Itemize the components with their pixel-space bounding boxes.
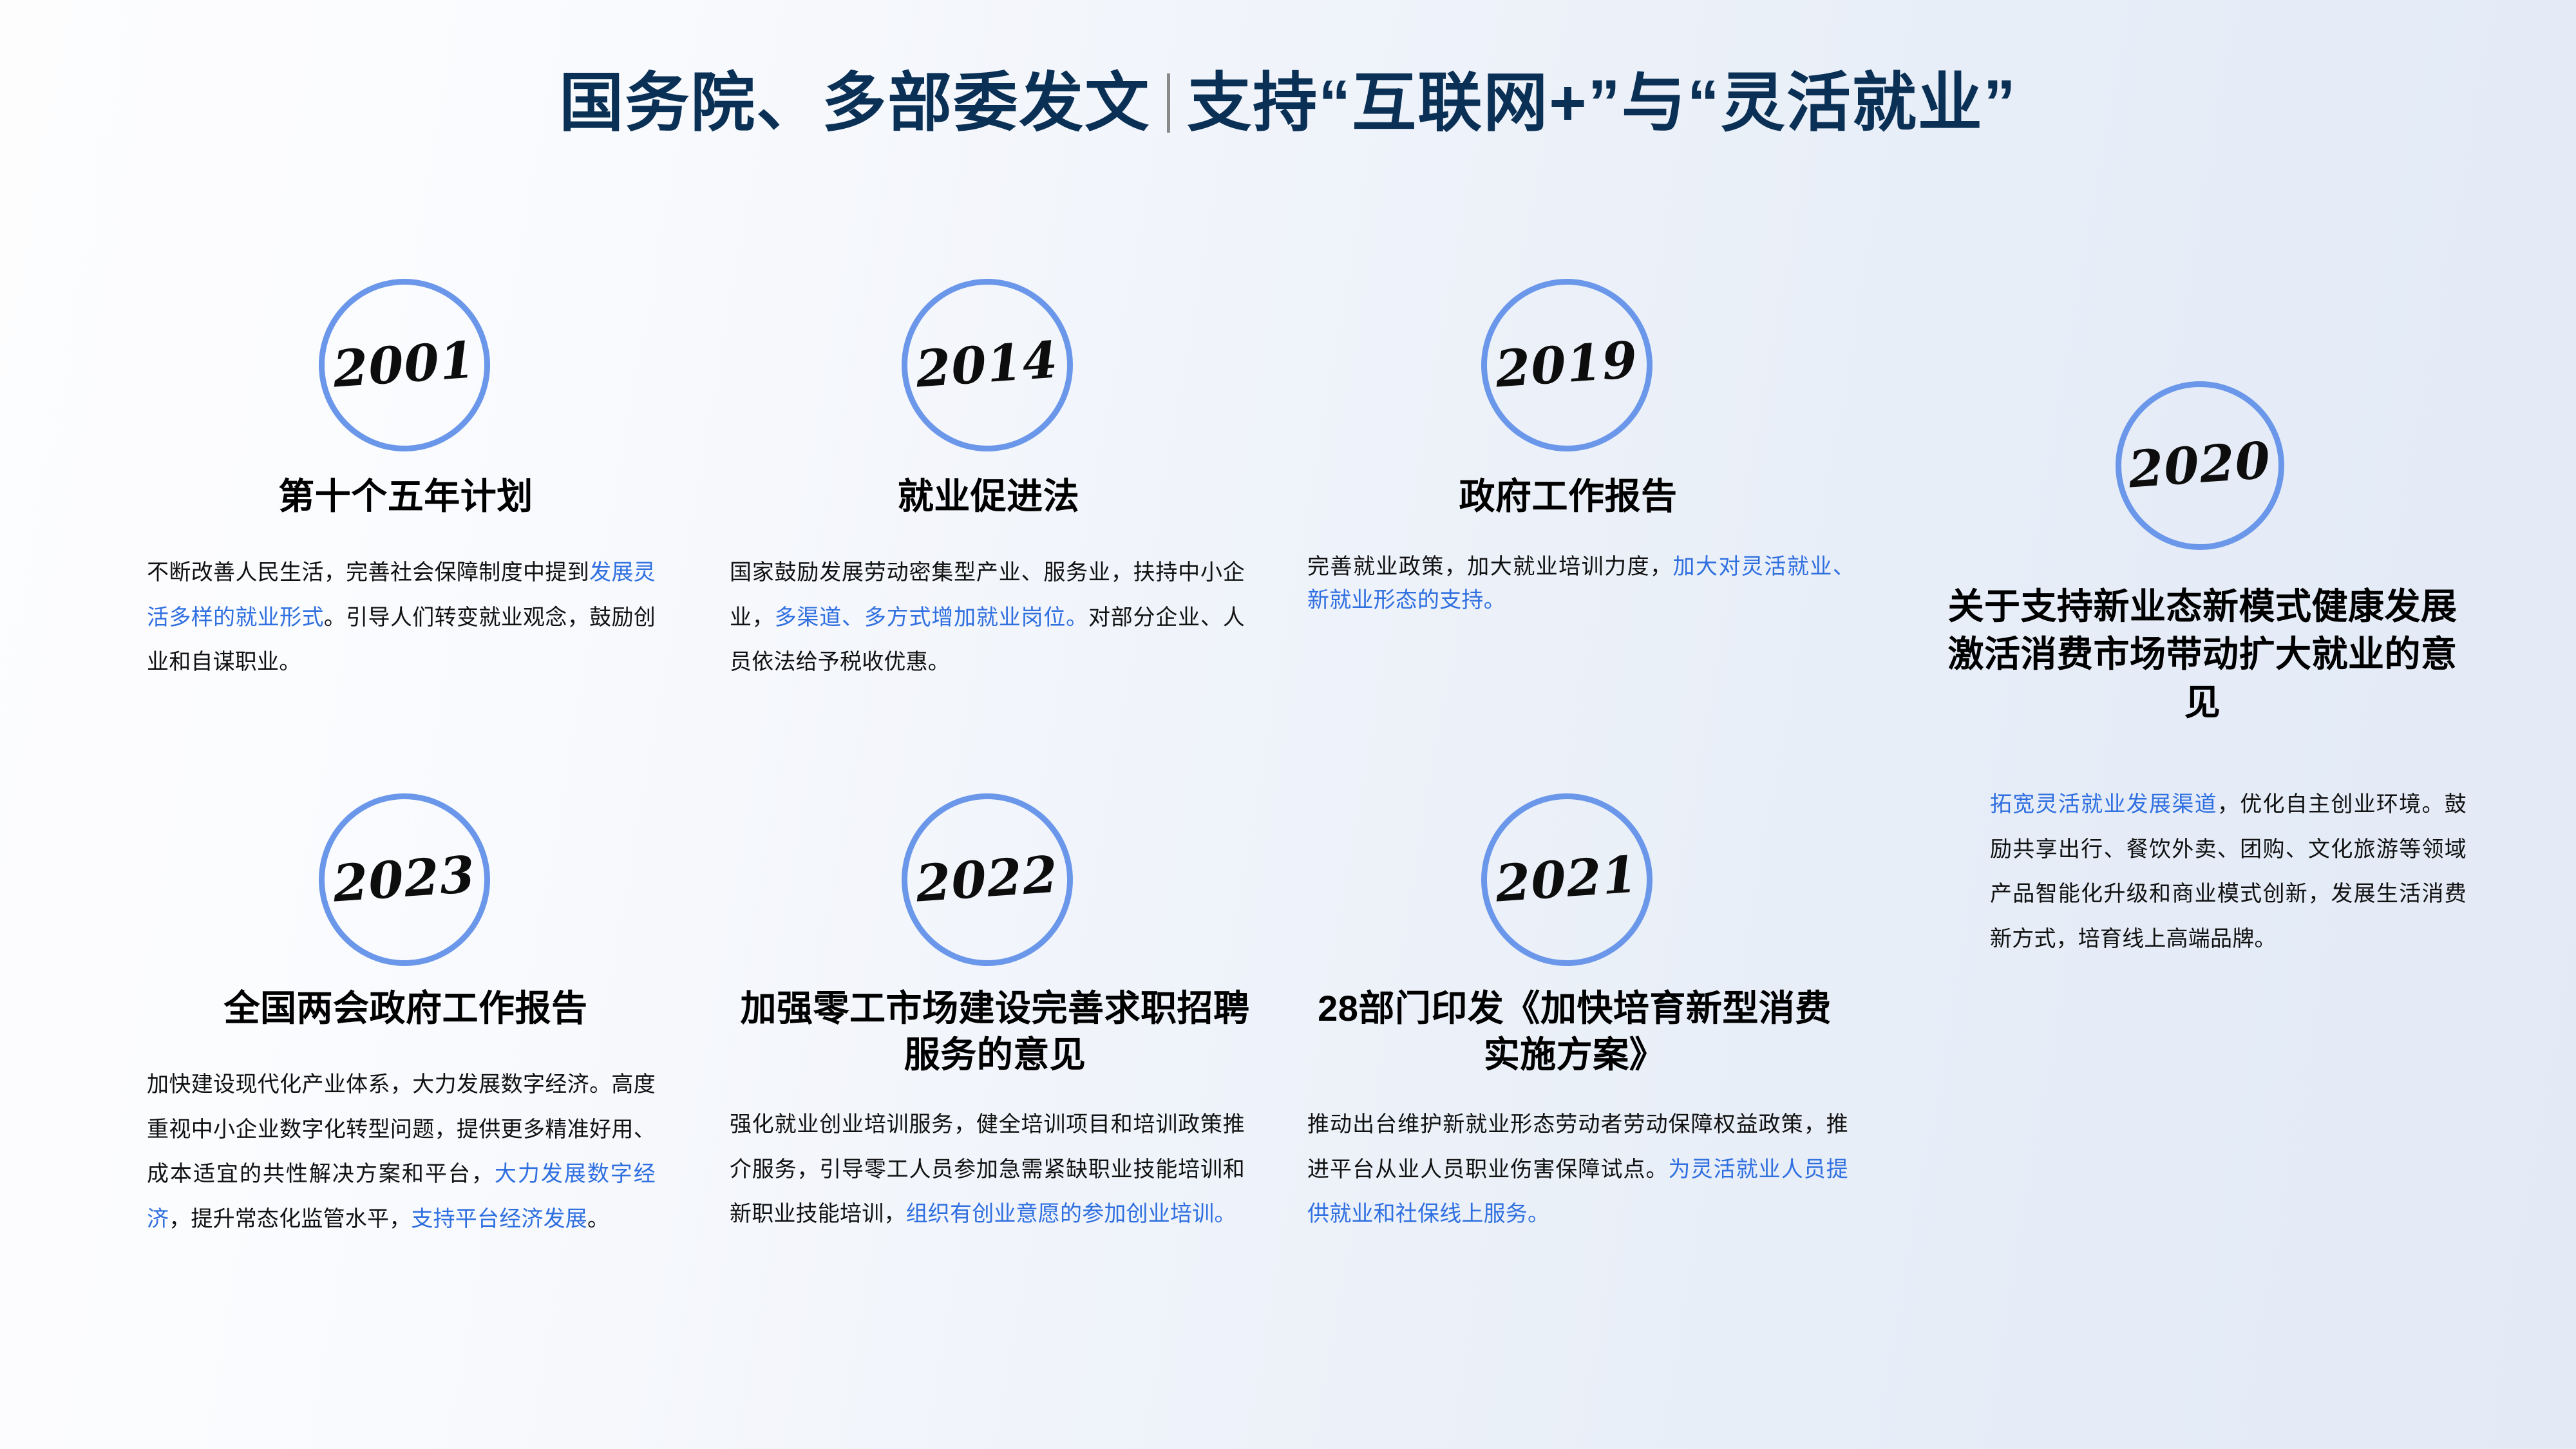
year-label: 2022 xyxy=(914,849,1060,909)
year-label: 2001 xyxy=(332,335,477,395)
card-body: 国家鼓励发展劳动密集型产业、服务业，扶持中小企业，多渠道、多方式增加就业岗位。对… xyxy=(730,551,1245,685)
card-body: 推动出台维护新就业形态劳动者劳动保障权益政策，推进平台从业人员职业伤害保障试点。… xyxy=(1307,1103,1848,1237)
infographic-stage: 国务院、多部委发文 支持“互联网+”与“灵活就业” 2001 第十个五年计划 不… xyxy=(0,0,2576,1449)
year-label: 2014 xyxy=(914,335,1060,395)
body-text: 。 xyxy=(587,1207,609,1231)
year-circle-2020: 2020 xyxy=(2116,381,2284,550)
year-label: 2023 xyxy=(332,849,477,909)
body-text: 完善就业政策，加大就业培训力度， xyxy=(1307,554,1673,579)
card-heading: 关于支持新业态新模式健康发展激活消费市场带动扩大就业的意见 xyxy=(1945,583,2460,726)
body-text: ，提升常态化监管水平， xyxy=(169,1207,411,1231)
title-divider xyxy=(1167,73,1170,133)
page-title-sub: 支持“互联网+”与“灵活就业” xyxy=(1187,71,2016,135)
card-heading: 政府工作报告 xyxy=(1311,473,1826,520)
year-circle-2001: 2001 xyxy=(319,279,490,451)
card-heading: 就业促进法 xyxy=(731,473,1246,520)
card-body: 完善就业政策，加大就业培训力度，加大对灵活就业、新就业形态的支持。 xyxy=(1307,551,1855,617)
highlighted-text: 多渠道、多方式增加就业岗位。 xyxy=(775,605,1088,630)
highlighted-text: 支持平台经济发展 xyxy=(411,1207,587,1231)
card-heading: 28部门印发《加快培育新型消费实施方案》 xyxy=(1307,985,1842,1077)
year-label: 2021 xyxy=(1494,849,1640,909)
page-title-main: 国务院、多部委发文 xyxy=(559,71,1150,135)
page-title: 国务院、多部委发文 支持“互联网+”与“灵活就业” xyxy=(0,71,2576,135)
year-circle-2022: 2022 xyxy=(902,793,1073,966)
card-body: 拓宽灵活就业发展渠道，优化自主创业环境。鼓励共享出行、餐饮外卖、团购、文化旅游等… xyxy=(1990,782,2467,962)
year-circle-2019: 2019 xyxy=(1481,279,1653,451)
highlighted-text: 组织有创业意愿的参加创业培训。 xyxy=(906,1202,1236,1226)
card-body: 强化就业创业培训服务，健全培训项目和培训政策推介服务，引导零工人员参加急需紧缺职… xyxy=(730,1103,1245,1237)
year-label: 2020 xyxy=(2127,435,2273,495)
year-circle-2021: 2021 xyxy=(1481,793,1653,966)
body-text: 不断改善人民生活，完善社会保障制度中提到 xyxy=(147,560,589,585)
card-heading: 加强零工市场建设完善求职招聘服务的意见 xyxy=(731,985,1259,1077)
year-label: 2019 xyxy=(1494,335,1640,395)
year-circle-2023: 2023 xyxy=(319,793,490,966)
highlighted-text: 拓宽灵活就业发展渠道 xyxy=(1990,792,2217,817)
card-body: 加快建设现代化产业体系，大力发展数字经济。高度重视中小企业数字化转型问题，提供更… xyxy=(147,1063,656,1242)
card-heading: 全国两会政府工作报告 xyxy=(148,985,663,1032)
year-circle-2014: 2014 xyxy=(902,279,1073,451)
card-body: 不断改善人民生活，完善社会保障制度中提到发展灵活多样的就业形式。引导人们转变就业… xyxy=(147,551,656,685)
card-heading: 第十个五年计划 xyxy=(148,473,663,520)
